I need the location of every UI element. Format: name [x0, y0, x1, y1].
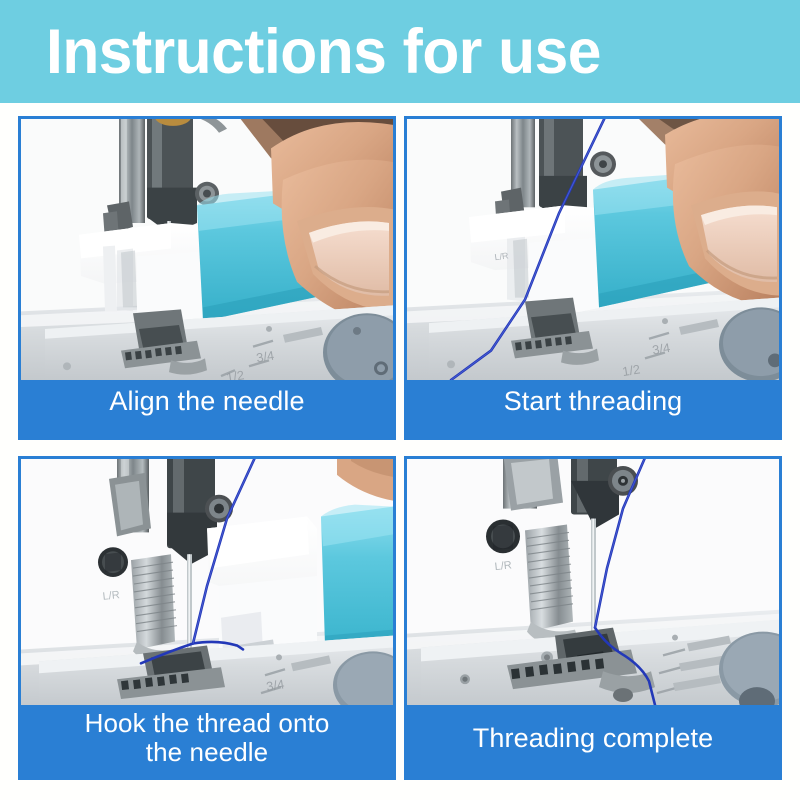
svg-text:3/4: 3/4 — [255, 348, 275, 365]
step-caption-3-line-2: the needle — [27, 738, 387, 767]
step-photo-1: 3/4 1/2 — [21, 119, 393, 380]
sewing-machine-illustration-3: L/R — [21, 459, 393, 705]
step-card-3[interactable]: L/R — [18, 456, 396, 780]
svg-text:L/R: L/R — [494, 559, 512, 573]
page-title: Instructions for use — [46, 21, 601, 84]
svg-text:L/R: L/R — [494, 250, 510, 262]
steps-grid: 3/4 1/2 — [18, 116, 782, 780]
svg-text:3/4: 3/4 — [651, 340, 671, 357]
sewing-machine-illustration-1: 3/4 1/2 — [21, 119, 393, 380]
step-photo-4: L/R — [407, 459, 779, 705]
svg-text:1/2: 1/2 — [225, 367, 245, 380]
sewing-machine-illustration-4: L/R — [407, 459, 779, 705]
svg-text:1/2: 1/2 — [621, 362, 641, 379]
sewing-machine-illustration-2: L/R — [407, 119, 779, 380]
svg-text:3/4: 3/4 — [265, 677, 285, 695]
step-photo-3: L/R — [21, 459, 393, 705]
svg-text:L/R: L/R — [102, 589, 120, 603]
step-card-1[interactable]: 3/4 1/2 — [18, 116, 396, 440]
instruction-poster: Instructions for use — [0, 0, 800, 800]
step-photo-2: L/R — [407, 119, 779, 380]
step-caption-1-line-1: Align the needle — [27, 386, 387, 416]
step-caption-4-line-1: Threading complete — [413, 723, 773, 753]
step-card-4[interactable]: L/R — [404, 456, 782, 780]
step-caption-2-line-1: Start threading — [413, 386, 773, 416]
step-caption-1: Align the needle — [21, 380, 393, 437]
step-card-2[interactable]: L/R — [404, 116, 782, 440]
step-caption-3: Hook the thread onto the needle — [21, 705, 393, 777]
header-banner: Instructions for use — [0, 0, 800, 103]
step-caption-3-line-1: Hook the thread onto — [27, 709, 387, 738]
step-caption-2: Start threading — [407, 380, 779, 437]
step-caption-4: Threading complete — [407, 705, 779, 777]
